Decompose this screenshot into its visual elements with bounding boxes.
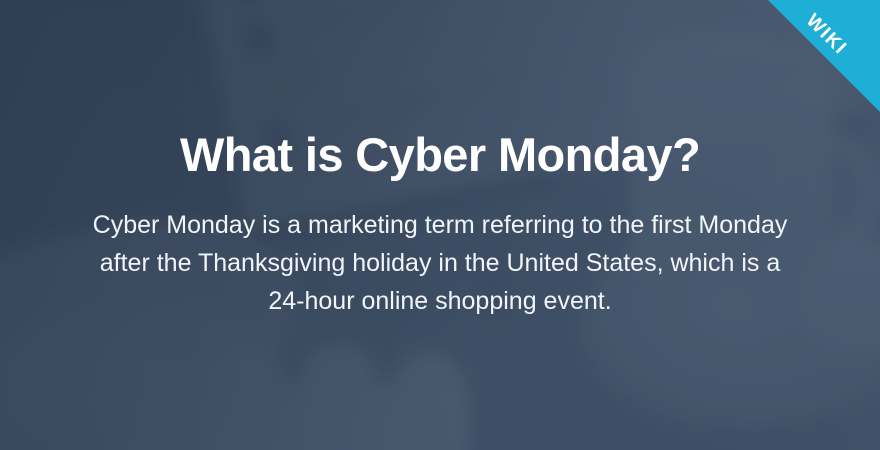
card-content: What is Cyber Monday? Cyber Monday is a …: [0, 0, 880, 450]
page-title: What is Cyber Monday?: [180, 130, 700, 179]
wiki-corner-ribbon[interactable]: WIKI: [768, 0, 880, 112]
wiki-info-card: What is Cyber Monday? Cyber Monday is a …: [0, 0, 880, 450]
card-description: Cyber Monday is a marketing term referri…: [90, 206, 790, 320]
